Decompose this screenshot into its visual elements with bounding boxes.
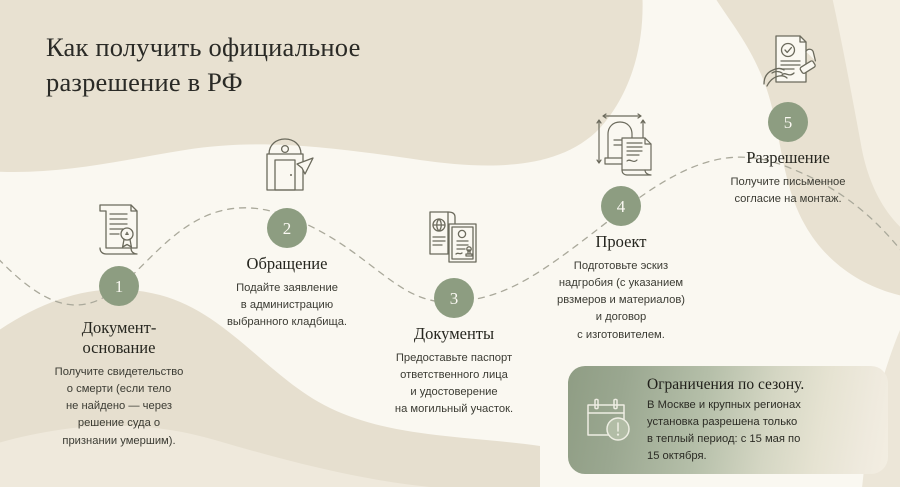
step-title-2: Обращение: [172, 254, 402, 274]
step-desc-3: Предоставьте паспорт ответственного лица…: [339, 350, 569, 419]
step-badge-5: 5: [768, 102, 808, 142]
step-title-5: Разрешение: [673, 148, 900, 168]
step-badge-3: 3: [434, 278, 474, 318]
step-badge-4: 4: [601, 186, 641, 226]
season-restriction-card: Ограничения по сезону. В Москве и крупны…: [568, 366, 888, 474]
step-badge-1: 1: [99, 266, 139, 306]
page-title: Как получить официальное разрешение в РФ: [46, 30, 476, 100]
stamped-document-hand-icon: [754, 28, 822, 96]
step-desc-4: Подготовьте эскиз надгробия (с указанием…: [506, 258, 736, 344]
passport-id-icon: [420, 204, 488, 272]
notice-text-block: Ограничения по сезону. В Москве и крупны…: [647, 376, 872, 465]
gravestone-blueprint-icon: [587, 112, 655, 180]
step-title-4: Проект: [506, 232, 736, 252]
notice-body: В Москве и крупных регионах установка ра…: [647, 397, 872, 464]
step-badge-2: 2: [267, 208, 307, 248]
step-desc-5: Получите письменное согласие на монтаж.: [673, 174, 900, 208]
certificate-seal-icon: [85, 196, 153, 264]
calendar-alert-icon: [582, 393, 636, 447]
notice-title: Ограничения по сезону.: [647, 376, 872, 395]
doorway-cursor-icon: [253, 134, 321, 202]
step-desc-1: Получите свидетельство о смерти (если те…: [4, 364, 234, 450]
